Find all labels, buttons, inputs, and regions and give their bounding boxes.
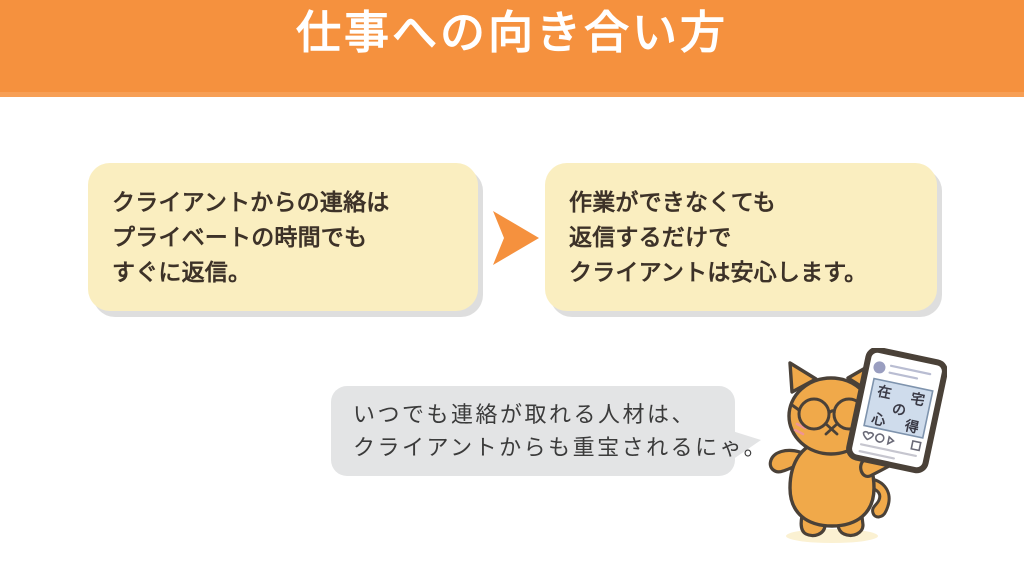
speech-bubble-line-1: いつでも連絡が取れる人材は、 — [353, 399, 723, 432]
info-card-right-line-1: 作業ができなくても — [569, 185, 937, 220]
info-card-right-line-2: 返信するだけで — [569, 220, 937, 255]
info-card-left-line-2: プライベートの時間でも — [112, 220, 478, 255]
info-card-right-line-3: クライアントは安心します。 — [569, 255, 937, 290]
info-card-right: 作業ができなくても 返信するだけで クライアントは安心します。 — [545, 163, 937, 311]
info-card-left-line-3: すぐに返信。 — [112, 255, 478, 290]
info-card-left-line-1: クライアントからの連絡は — [112, 185, 478, 220]
info-card-left: クライアントからの連絡は プライベートの時間でも すぐに返信。 — [88, 163, 478, 311]
card-row: クライアントからの連絡は プライベートの時間でも すぐに返信。 作業ができなくて… — [0, 163, 1024, 313]
tablet-device: 在 宅 の 心 得 — [847, 348, 946, 472]
page-title: 仕事への向き合い方 — [296, 10, 728, 55]
speech-bubble: いつでも連絡が取れる人材は、 クライアントからも重宝されるにゃ。 — [331, 386, 735, 476]
tablet-post-title: 在宅の心得 — [947, 348, 948, 349]
speech-bubble-text: いつでも連絡が取れる人材は、 クライアントからも重宝されるにゃ。 — [353, 399, 723, 465]
cat-mascot: 在 宅 の 心 得 眼鏡の — [762, 348, 947, 553]
speech-bubble-line-2: クライアントからも重宝されるにゃ。 — [353, 432, 723, 465]
cat-mascot-label: 眼鏡の猫キャラクター — [947, 348, 948, 349]
header-banner: 仕事への向き合い方 — [0, 0, 1024, 97]
arrow-right-icon — [489, 209, 541, 267]
header-banner-underline — [0, 92, 1024, 97]
